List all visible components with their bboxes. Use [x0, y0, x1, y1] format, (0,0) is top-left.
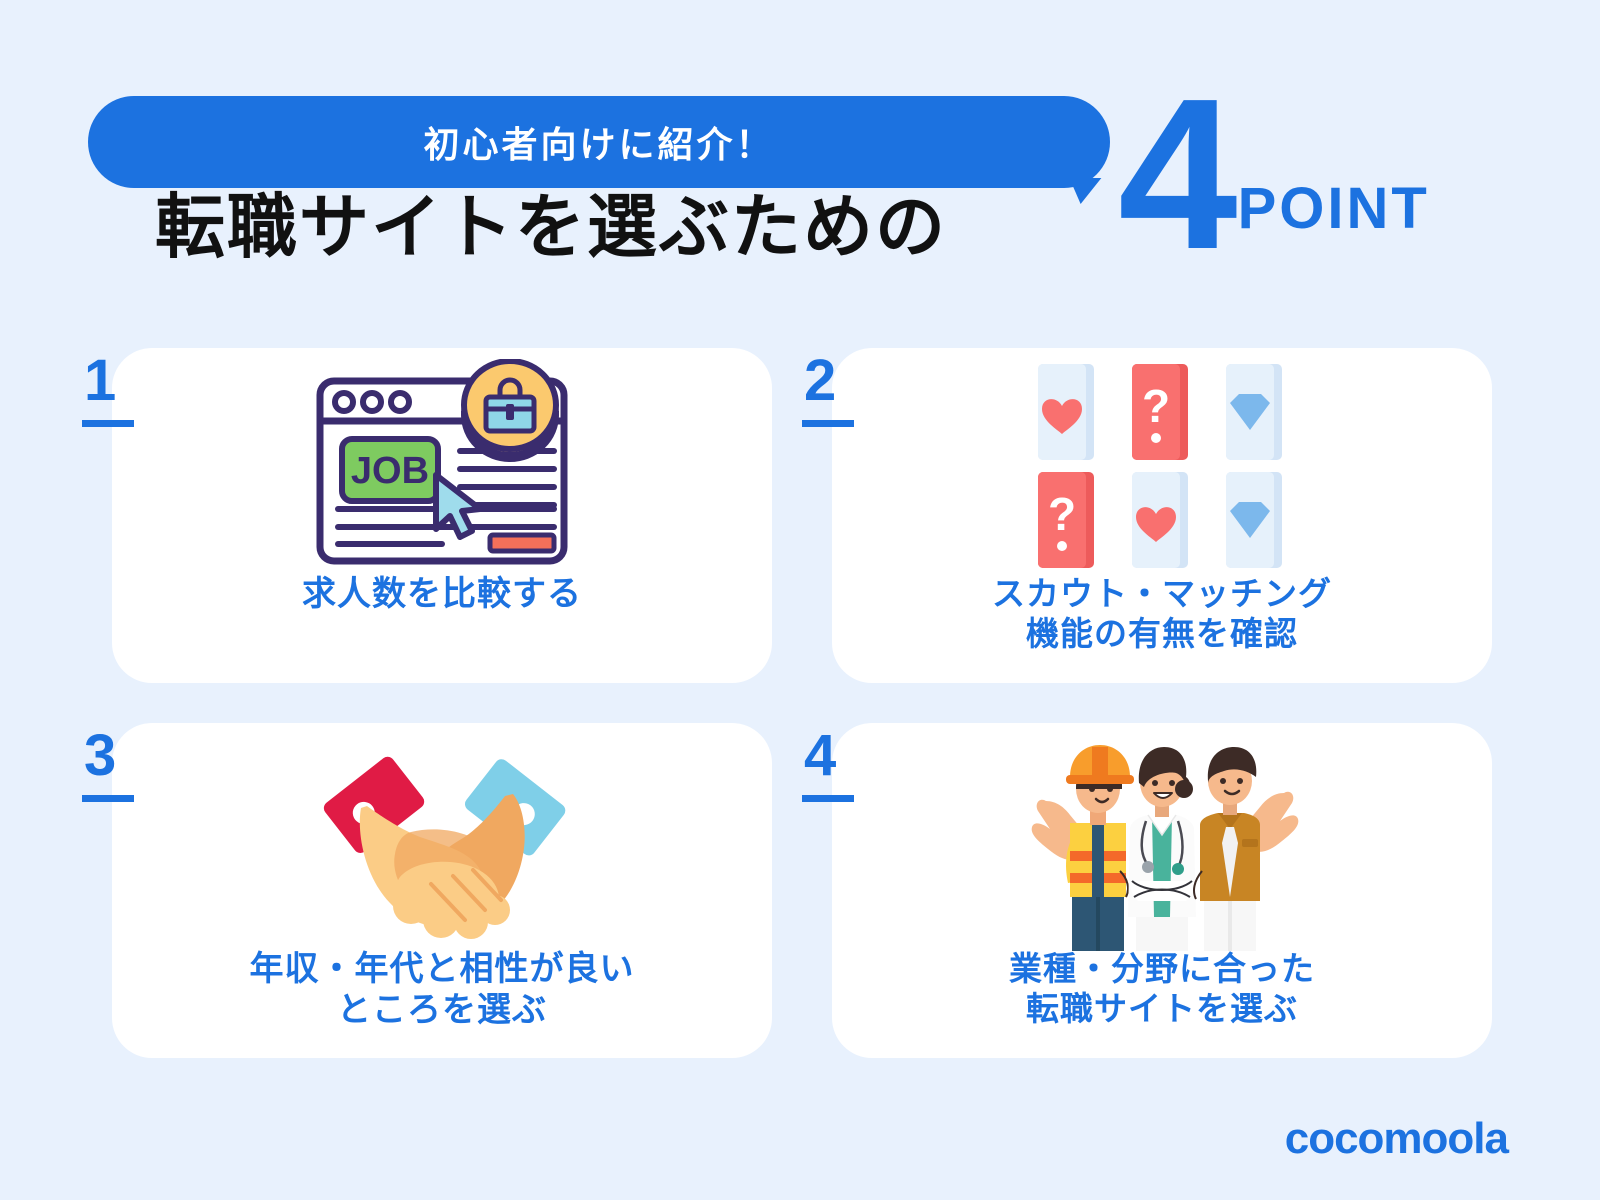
page-title: 転職サイトを選ぶための: [155, 192, 947, 262]
card-number-underline-1: [82, 420, 134, 427]
point-card-1[interactable]: 1 JOB: [112, 348, 772, 683]
speech-bubble-tail: [1067, 178, 1102, 204]
point-badge: 4 POINT: [1118, 86, 1430, 262]
card-number-3: 3: [84, 727, 116, 785]
card-number-underline-4: [802, 795, 854, 802]
point-card-4[interactable]: 4: [832, 723, 1492, 1058]
svg-text:?: ?: [1048, 488, 1076, 540]
svg-text:JOB: JOB: [351, 450, 429, 492]
handshake-icon: [112, 723, 772, 949]
card-label-3: 年収・年代と相性が良い ところを選ぶ: [250, 949, 635, 1032]
header: 初心者向けに紹介！ 転職サイトを選ぶための 4 POINT: [0, 0, 1600, 330]
point-label: POINT: [1238, 175, 1430, 262]
matching-cards-grid-icon: ? ?: [832, 348, 1492, 574]
cocomoola-logo: cocomoola: [1285, 1114, 1508, 1164]
bubble-text: 初心者向けに紹介！: [423, 116, 774, 168]
card-number-1: 1: [84, 352, 116, 410]
point-count: 4: [1118, 86, 1232, 262]
card-label-2: スカウト・マッチング 機能の有無を確認: [992, 574, 1332, 655]
card-number-4: 4: [804, 727, 836, 785]
card-number-underline-2: [802, 420, 854, 427]
points-grid: 1 JOB: [112, 348, 1492, 1058]
browser-job-listing-icon: JOB: [112, 348, 772, 574]
svg-text:?: ?: [1142, 380, 1170, 432]
card-number-underline-3: [82, 795, 134, 802]
point-card-2[interactable]: 2 ?: [832, 348, 1492, 683]
card-number-2: 2: [804, 352, 836, 410]
three-professionals-icon: [832, 723, 1492, 949]
point-card-3[interactable]: 3: [112, 723, 772, 1058]
card-label-1: 求人数を比較する: [302, 574, 582, 615]
speech-bubble: 初心者向けに紹介！: [88, 96, 1110, 188]
card-label-4: 業種・分野に合った 転職サイトを選ぶ: [1009, 949, 1315, 1030]
